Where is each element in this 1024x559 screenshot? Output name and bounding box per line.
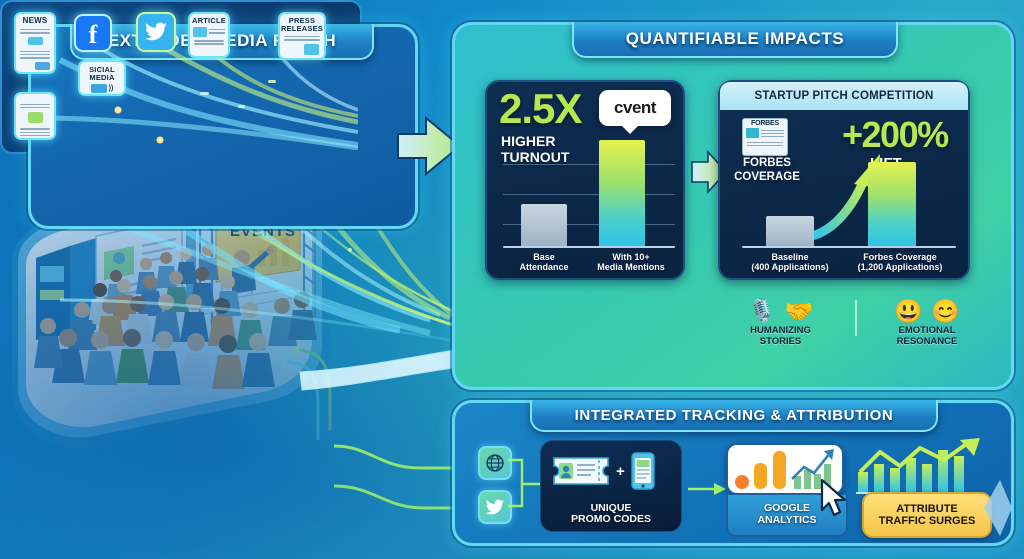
mouse-cursor-icon: [818, 478, 852, 520]
bar-label-base-1: Base: [505, 252, 583, 262]
source-merge-connector: [506, 444, 542, 524]
plus-sign: +: [616, 463, 625, 480]
turnout-stat: 2.5X: [499, 90, 581, 129]
promo-to-analytics-arrow: [688, 480, 728, 498]
microphone-icon: 🎙️: [748, 300, 777, 323]
emotional-resonance-group: 😃 😊 EMOTIONAL RESONANCE: [868, 300, 986, 347]
grinning-face-icon: 😃: [894, 300, 923, 323]
startup-pitch-header: STARTUP PITCH COMPETITION: [720, 82, 968, 110]
globe-glyph: [485, 453, 505, 473]
bar-label-media-1: With 10+: [583, 252, 679, 262]
press-releases-card: PRESS RELEASES: [278, 12, 326, 60]
bar-label-baseline-2: (400 Applications): [738, 262, 842, 272]
emotional-resonance-label-2: RESONANCE: [897, 337, 958, 348]
attribute-pill-label-1: ATTRIBUTE: [879, 503, 976, 515]
social-media-card: SICIAL MEDIA )): [78, 60, 126, 96]
forbes-newspaper-icon: FORBES: [742, 118, 788, 156]
promo-tile-label-2: PROMO CODES: [571, 514, 651, 526]
humanizing-stories-label-2: STORIES: [760, 337, 802, 348]
bar-base-attendance: [521, 204, 567, 246]
bar-label-forbes-2: (1,200 Applications): [842, 262, 958, 272]
handshake-icon: 🤝: [785, 300, 814, 323]
impacts-panel-banner: QUANTIFIABLE IMPACTS: [572, 22, 898, 58]
bar-label-base-2: Attendance: [505, 262, 583, 272]
ticket-icon: [551, 454, 611, 488]
turnout-stat-sub-2: TURNOUT: [501, 150, 569, 164]
unique-promo-codes-tile: + UNIQUE PROMO CODES: [540, 440, 682, 532]
smiling-face-icon: 😊: [931, 300, 960, 323]
bar-forbes-coverage: [868, 162, 916, 246]
startup-pitch-card: STARTUP PITCH COMPETITION FORBES FORBES …: [718, 80, 970, 280]
traffic-surge-chart-icon: [854, 438, 994, 498]
news-card: NEWS: [14, 12, 56, 74]
bar-baseline: [766, 216, 814, 246]
humanizing-stories-group: 🎙️ 🤝 HUMANIZING STORIES: [718, 300, 843, 347]
newspaper-card: [14, 92, 56, 140]
attribute-pill-label-2: TRAFFIC SURGES: [879, 515, 976, 527]
article-card: ARTICLE: [188, 12, 230, 58]
attribute-traffic-surges-pill: ATTRIBUTE TRAFFIC SURGES: [862, 492, 992, 538]
analytics-label-2: ANALYTICS: [757, 515, 816, 527]
forbes-coverage-label-1: FORBES: [736, 158, 798, 170]
tracking-panel-banner: INTEGRATED TRACKING & ATTRIBUTION: [530, 400, 938, 432]
bar-label-media-2: Media Mentions: [583, 262, 679, 272]
turnout-chart-card: 2.5X HIGHER TURNOUT cvent Base Attendanc…: [485, 80, 685, 280]
facebook-icon: f: [74, 14, 112, 52]
turnout-stat-sub-1: HIGHER: [501, 134, 555, 148]
right-edge-arrow-decoration: [982, 470, 1024, 546]
ellipsis-dots: • • •: [238, 30, 266, 42]
bar-label-baseline-1: Baseline: [738, 252, 842, 262]
twitter-bird-glyph: [144, 22, 168, 42]
bar-label-forbes-1: Forbes Coverage: [842, 252, 958, 262]
media-panel-inner-screen: NEWS f SICIAL MEDIA )): [0, 0, 362, 154]
qualitative-divider: [855, 300, 857, 336]
infographic-canvas: EXTENDED MEDIA REACH NEWS: [0, 0, 1024, 559]
twitter-icon: [136, 12, 176, 52]
cvent-logo-badge: cvent: [599, 90, 671, 126]
forbes-coverage-label-2: COVERAGE: [730, 172, 804, 184]
twitter-bird-glyph: [485, 499, 505, 516]
mobile-phone-icon: [630, 451, 656, 491]
tracking-connector-wires: [330, 440, 470, 550]
bar-with-media-mentions: [599, 140, 645, 246]
